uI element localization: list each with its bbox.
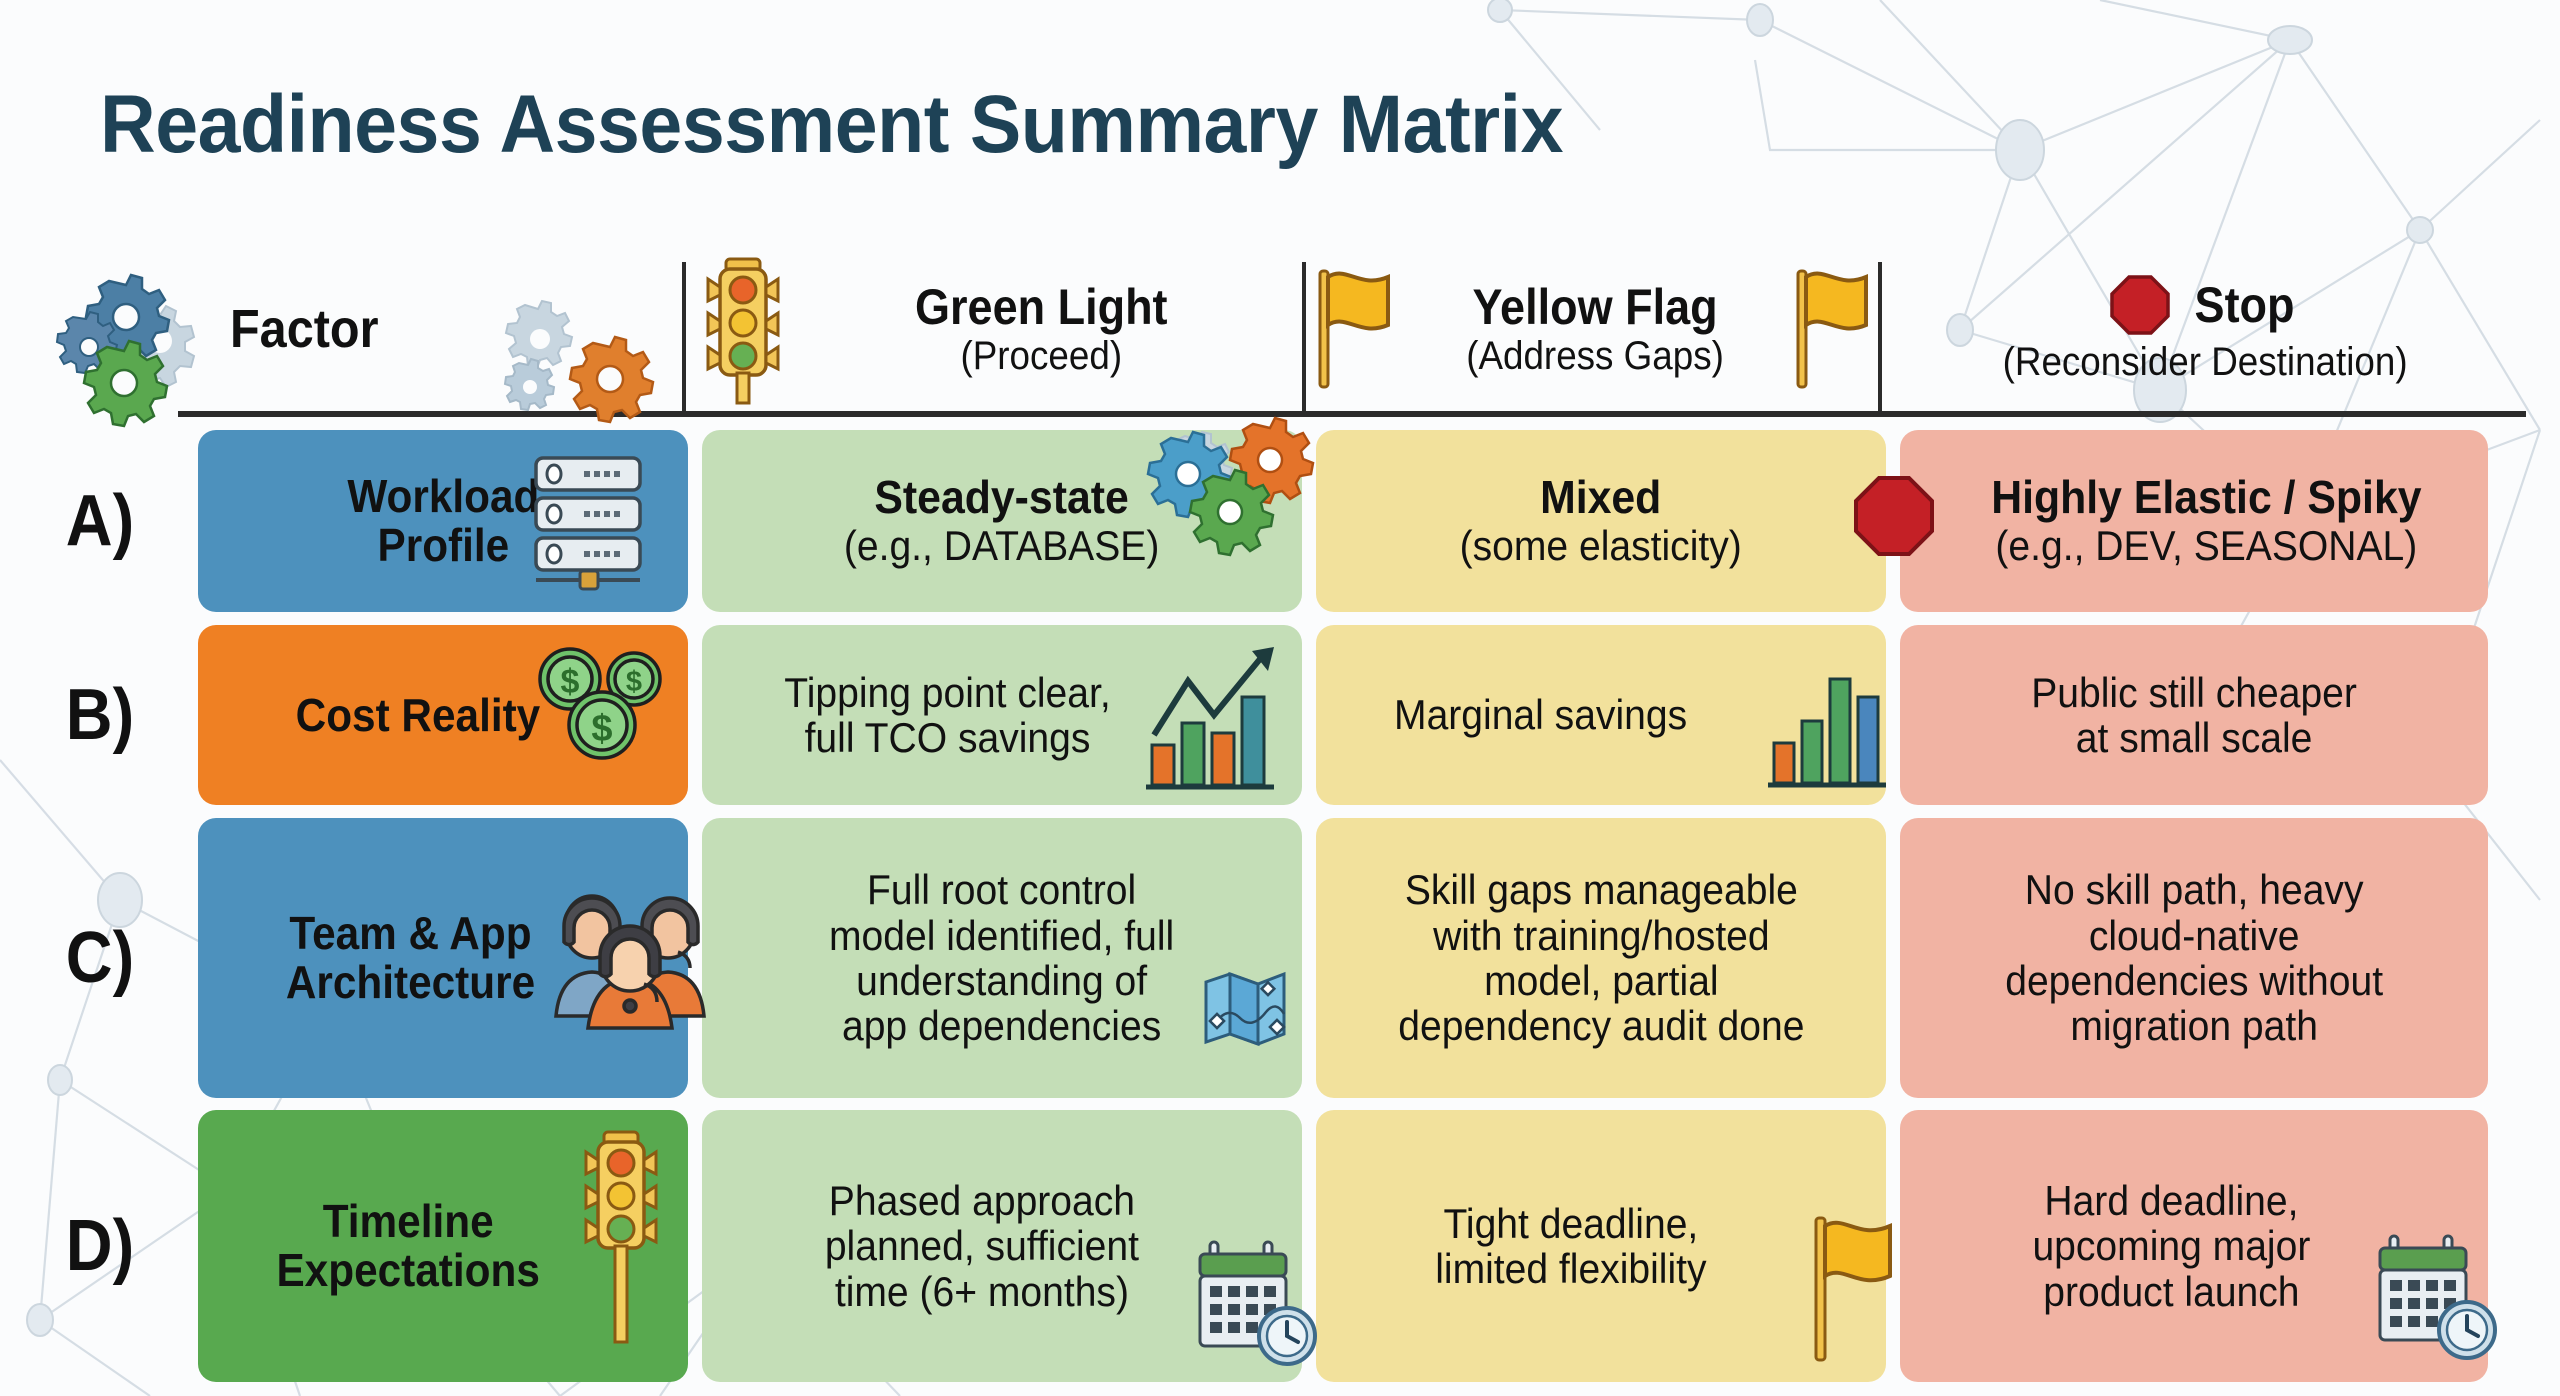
cell-green-workload[interactable]: Steady-state (e.g., DATABASE)	[702, 430, 1302, 612]
green-line-2: (e.g., DATABASE)	[844, 523, 1159, 568]
header-divider-3	[1878, 262, 1882, 412]
green-line-3: understanding of	[829, 958, 1174, 1003]
factor-line-2: Expectations	[276, 1246, 539, 1295]
stop-line-2: cloud-native	[2005, 913, 2383, 958]
cell-stop-team[interactable]: No skill path, heavy cloud-native depend…	[1900, 818, 2488, 1098]
header-stop-title: Stop	[2195, 276, 2295, 334]
server-rack-icon	[528, 452, 658, 592]
green-line-1: Steady-state	[844, 473, 1159, 523]
cell-stop-timeline[interactable]: Hard deadline, upcoming major product la…	[1900, 1110, 2488, 1382]
bar-chart-up-icon	[1142, 637, 1322, 797]
yellow-line-3: model, partial	[1398, 958, 1804, 1003]
cell-stop-cost[interactable]: Public still cheaper at small scale	[1900, 625, 2488, 805]
factor-line-1: Timeline	[276, 1197, 539, 1246]
yellow-flag-icon-right	[1792, 267, 1876, 391]
calendar-clock-icon-stop	[2372, 1232, 2504, 1362]
header-divider-1	[682, 262, 686, 412]
yellow-line-2: limited flexibility	[1435, 1246, 1706, 1291]
green-line-1: Full root control	[829, 867, 1174, 912]
stop-line-2: (e.g., DEV, SEASONAL)	[1991, 523, 2421, 568]
green-line-1: Tipping point clear,	[784, 670, 1110, 715]
cell-factor-timeline[interactable]: Timeline Expectations	[198, 1110, 688, 1382]
cell-yellow-team[interactable]: Skill gaps manageable with training/host…	[1316, 818, 1886, 1098]
cell-green-timeline[interactable]: Phased approach planned, sufficient time…	[702, 1110, 1302, 1382]
cell-factor-workload-profile[interactable]: Workload Profile	[198, 430, 688, 612]
stop-line-1: Public still cheaper	[2031, 670, 2357, 715]
yellow-line-1: Skill gaps manageable	[1398, 867, 1804, 912]
green-line-2: full TCO savings	[784, 715, 1110, 760]
row-label-b: B)	[66, 674, 134, 756]
matrix-page: Readiness Assessment Summary Matrix	[0, 0, 2560, 1396]
gears-icon-secondary	[490, 291, 680, 411]
stop-line-1: No skill path, heavy	[2005, 867, 2383, 912]
factor-line-1: Cost Reality	[296, 691, 541, 740]
gears-icon	[64, 273, 214, 403]
factor-line-1: Workload	[347, 472, 539, 521]
yellow-line-1: Tight deadline,	[1435, 1201, 1706, 1246]
svg-text:$: $	[591, 708, 612, 750]
green-line-2: model identified, full	[829, 913, 1174, 958]
yellow-flag-icon	[1314, 267, 1398, 391]
factor-line-2: Architecture	[285, 958, 534, 1007]
factor-line-2: Profile	[347, 521, 539, 570]
header-yellow-subtitle: (Address Gaps)	[1466, 336, 1724, 376]
header-green-subtitle: (Proceed)	[912, 336, 1170, 376]
cell-yellow-workload[interactable]: Mixed (some elasticity)	[1316, 430, 1886, 612]
calendar-clock-icon	[1192, 1238, 1324, 1368]
header-yellow-title: Yellow Flag	[1469, 282, 1721, 332]
cell-yellow-cost[interactable]: Marginal savings	[1316, 625, 1886, 805]
stop-line-3: product launch	[2032, 1269, 2310, 1314]
table-row: C) Team & App Architecture	[0, 818, 2560, 1098]
yellow-line-1: Marginal savings	[1394, 692, 1687, 737]
header-bottom-rule	[178, 411, 2526, 417]
yellow-line-4: dependency audit done	[1398, 1003, 1804, 1048]
page-title: Readiness Assessment Summary Matrix	[100, 78, 1563, 172]
row-label-d: D)	[66, 1205, 134, 1287]
stop-line-4: migration path	[2005, 1003, 2383, 1048]
stop-line-2: upcoming major	[2032, 1223, 2310, 1268]
header-green-title: Green Light	[915, 282, 1168, 332]
header-cell-stop: Stop (Reconsider Destination)	[1885, 245, 2525, 413]
bar-chart-icon	[1764, 645, 1914, 795]
map-icon	[1202, 968, 1288, 1048]
green-line-4: app dependencies	[829, 1003, 1174, 1048]
green-line-2: planned, sufficient	[825, 1223, 1139, 1268]
stop-sign-icon	[2109, 274, 2171, 336]
header-divider-2	[1302, 262, 1306, 412]
cell-green-cost[interactable]: Tipping point clear, full TCO savings	[702, 625, 1302, 805]
yellow-line-2: with training/hosted	[1398, 913, 1804, 958]
header-stop-subtitle: (Reconsider Destination)	[2002, 340, 2407, 385]
green-line-1: Phased approach	[825, 1178, 1139, 1223]
table-row: A) Workload Profile	[0, 430, 2560, 612]
row-label-a: A)	[66, 480, 134, 562]
header-cell-yellow-flag: Yellow Flag (Address Gaps)	[1310, 245, 1880, 413]
cell-stop-workload[interactable]: Highly Elastic / Spiky (e.g., DEV, SEASO…	[1900, 430, 2488, 612]
yellow-line-2: (some elasticity)	[1460, 523, 1742, 568]
svg-text:$: $	[626, 666, 642, 698]
header-cell-factor: Factor	[60, 245, 680, 413]
stop-line-1: Highly Elastic / Spiky	[1991, 473, 2421, 523]
cell-yellow-timeline[interactable]: Tight deadline, limited flexibility	[1316, 1110, 1886, 1382]
row-label-c: C)	[66, 917, 134, 999]
header-factor-label: Factor	[230, 298, 379, 360]
support-team-icon	[548, 866, 718, 1036]
stop-line-3: dependencies without	[2005, 958, 2383, 1003]
yellow-line-1: Mixed	[1460, 473, 1742, 523]
green-line-3: time (6+ months)	[825, 1269, 1139, 1314]
traffic-light-icon-row-d	[578, 1126, 664, 1346]
stop-line-2: at small scale	[2031, 715, 2357, 760]
factor-line-1: Team & App	[285, 909, 534, 958]
table-row: B) Cost Reality $ $	[0, 625, 2560, 805]
stop-line-1: Hard deadline,	[2032, 1178, 2310, 1223]
matrix-header-row: Factor	[0, 245, 2560, 413]
cell-green-team[interactable]: Full root control model identified, full…	[702, 818, 1302, 1098]
header-cell-green-light: Green Light (Proceed)	[690, 245, 1300, 413]
traffic-light-icon	[700, 253, 786, 405]
money-coins-icon: $ $ $	[528, 645, 678, 765]
yellow-flag-icon-row-d	[1808, 1214, 1900, 1364]
cell-factor-cost-reality[interactable]: Cost Reality $ $ $	[198, 625, 688, 805]
svg-text:$: $	[561, 663, 580, 701]
table-row: D) Timeline Expectations	[0, 1110, 2560, 1382]
cell-factor-team-architecture[interactable]: Team & App Architecture	[198, 818, 688, 1098]
